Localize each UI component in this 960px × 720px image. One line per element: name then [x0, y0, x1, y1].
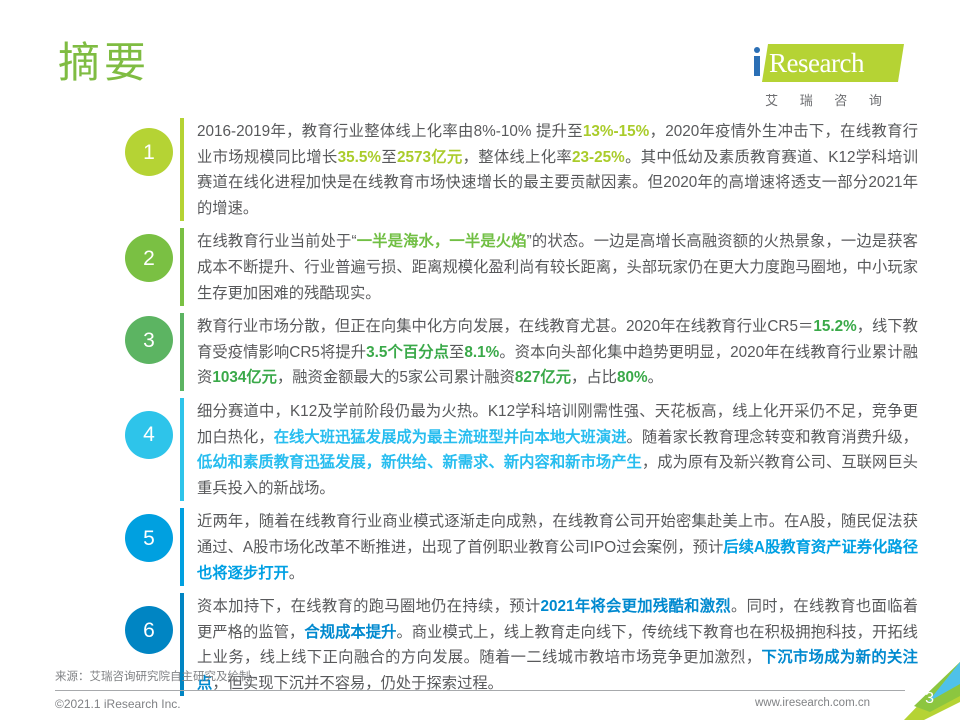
highlight-text: 一半是海水，一半是火焰	[357, 233, 527, 250]
accent-bar	[180, 508, 184, 586]
body-text: 。	[648, 369, 663, 386]
body-text: 2016-2019年，教育行业整体线上化率由8%-10% 提升至	[197, 123, 583, 140]
item-paragraph: 2016-2019年，教育行业整体线上化率由8%-10% 提升至13%-15%，…	[197, 118, 918, 221]
highlight-text: 3.5个百分点	[366, 344, 449, 361]
accent-bar	[180, 228, 184, 306]
accent-bar	[180, 313, 184, 391]
item-paragraph: 在线教育行业当前处于“一半是海水，一半是火焰”的状态。一边是高增长高融资额的火热…	[197, 228, 918, 306]
badge-container: 4	[118, 398, 180, 459]
item-number-badge[interactable]: 2	[125, 234, 173, 282]
copyright-text: ©2021.1 iResearch Inc.	[55, 697, 181, 711]
body-text: 。随着家长教育理念转变和教育消费升级，	[627, 429, 918, 446]
highlight-text: 在线大班迅猛发展成为最主流班型并向本地大班演进	[274, 429, 627, 446]
iresearch-logo: Research 艾 瑞 咨 询	[725, 44, 905, 109]
highlight-text: 23-25%	[572, 149, 625, 166]
logo-i-stem-icon	[754, 56, 760, 76]
summary-item-4: 4细分赛道中，K12及学前阶段仍最为火热。K12学科培训刚需性强、天花板高，线上…	[118, 398, 918, 501]
highlight-text: 2021年将会更加残酷和激烈	[540, 598, 730, 615]
badge-container: 3	[118, 313, 180, 364]
accent-bar	[180, 118, 184, 221]
highlight-text: 80%	[617, 369, 648, 386]
page-title: 摘要	[58, 42, 150, 84]
summary-item-3: 3教育行业市场分散，但正在向集中化方向发展，在线教育尤甚。2020年在线教育行业…	[118, 313, 918, 391]
item-number-badge[interactable]: 6	[125, 606, 173, 654]
item-paragraph: 资本加持下，在线教育的跑马圈地仍在持续，预计2021年将会更加残酷和激烈。同时，…	[197, 593, 918, 696]
item-number-badge[interactable]: 5	[125, 514, 173, 562]
highlight-text: 15.2%	[813, 318, 856, 335]
highlight-text: 13%-15%	[583, 123, 649, 140]
badge-container: 1	[118, 118, 180, 176]
body-text: 教育行业市场分散，但正在向集中化方向发展，在线教育尤甚。2020年在线教育行业C…	[197, 318, 813, 335]
highlight-text: 8.1%	[464, 344, 499, 361]
highlight-text: 35.5%	[338, 149, 381, 166]
logo-wordmark: Research	[769, 47, 864, 79]
body-text: 。	[289, 565, 304, 582]
highlight-text: 827亿元	[515, 369, 571, 386]
summary-item-5: 5近两年，随着在线教育行业商业模式逐渐走向成熟，在线教育公司开始密集赴美上市。在…	[118, 508, 918, 586]
body-text: ，整体线上化率	[463, 149, 572, 166]
highlight-text: 低幼和素质教育迅猛发展，新供给、新需求、新内容和新市场产生	[197, 454, 642, 471]
source-note: 来源：艾瑞咨询研究院自主研究及绘制。	[55, 668, 262, 684]
page-number: 3	[925, 690, 934, 708]
body-text: 至	[381, 149, 397, 166]
website-link[interactable]: www.iresearch.com.cn	[755, 697, 870, 709]
summary-item-1: 12016-2019年，教育行业整体线上化率由8%-10% 提升至13%-15%…	[118, 118, 918, 221]
highlight-text: 2573亿元	[397, 149, 463, 166]
body-text: 在线教育行业当前处于“	[197, 233, 357, 250]
corner-decoration-icon	[884, 662, 960, 720]
summary-item-2: 2在线教育行业当前处于“一半是海水，一半是火焰”的状态。一边是高增长高融资额的火…	[118, 228, 918, 306]
item-paragraph: 教育行业市场分散，但正在向集中化方向发展，在线教育尤甚。2020年在线教育行业C…	[197, 313, 918, 391]
body-text: 资本加持下，在线教育的跑马圈地仍在持续，预计	[197, 598, 540, 615]
logo-i-dot-icon	[754, 47, 760, 53]
item-paragraph: 近两年，随着在线教育行业商业模式逐渐走向成熟，在线教育公司开始密集赴美上市。在A…	[197, 508, 918, 586]
logo-mark: Research	[725, 44, 905, 84]
accent-bar	[180, 398, 184, 501]
highlight-text: 合规成本提升	[304, 624, 396, 641]
item-number-badge[interactable]: 3	[125, 316, 173, 364]
body-text: ，占比	[571, 369, 617, 386]
badge-container: 5	[118, 508, 180, 562]
slide-root: 摘要 Research 艾 瑞 咨 询 12016-2019年，教育行业整体线上…	[0, 0, 960, 720]
summary-list: 12016-2019年，教育行业整体线上化率由8%-10% 提升至13%-15%…	[118, 118, 918, 703]
item-number-badge[interactable]: 4	[125, 411, 173, 459]
body-text: ，融资金额最大的5家公司累计融资	[277, 369, 515, 386]
body-text: 至	[449, 344, 464, 361]
badge-container: 6	[118, 593, 180, 654]
item-number-badge[interactable]: 1	[125, 128, 173, 176]
item-paragraph: 细分赛道中，K12及学前阶段仍最为火热。K12学科培训刚需性强、天花板高，线上化…	[197, 398, 918, 501]
logo-subtitle: 艾 瑞 咨 询	[725, 90, 905, 109]
badge-container: 2	[118, 228, 180, 282]
highlight-text: 1034亿元	[212, 369, 277, 386]
footer-divider	[55, 690, 905, 691]
